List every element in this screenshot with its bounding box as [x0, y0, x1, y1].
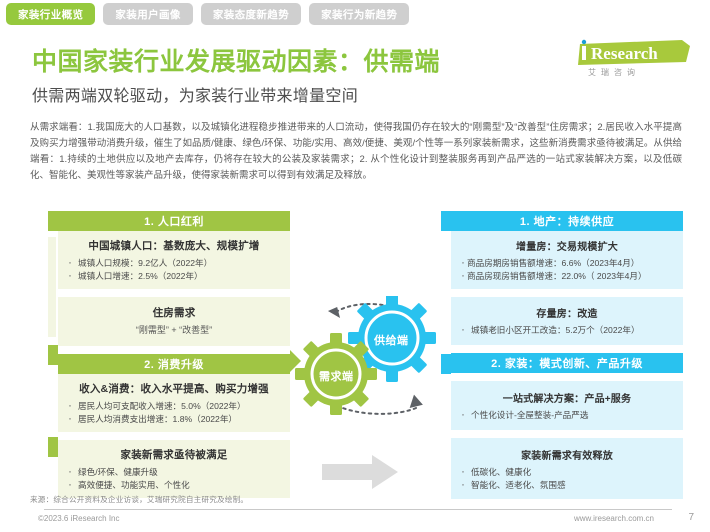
card-bullets: 商品房期房销售额增速：6.6%（2023年4月） 商品房现房销售额增速：22.0… — [457, 257, 677, 283]
card-bullets: 绿色/环保、健康升级 高效便捷、功能实用、个性化 — [64, 466, 284, 492]
spacer — [451, 289, 683, 297]
demand-side-column: 1. 人口红利 中国城镇人口：基数庞大、规模扩增 城镇人口规模：9.2亿人（20… — [58, 211, 290, 498]
page-title: 中国家装行业发展驱动因素：供需端 — [32, 42, 440, 78]
website-link[interactable]: www.iresearch.com.cn — [574, 514, 654, 523]
spacer — [58, 289, 290, 297]
card-bullets: 个性化设计-全屋整装-产品严选 — [457, 409, 677, 422]
source-note: 来源：综合公开资料及企业访谈，艾瑞研究院自主研究及绘制。 — [30, 494, 248, 505]
footer-divider — [44, 509, 672, 510]
left-section-2-header: 2. 消费升级 — [58, 354, 290, 374]
page-number: 7 — [688, 512, 694, 523]
card-plain-text: “刚需型” + “改善型” — [64, 324, 284, 337]
card-title: 住房需求 — [64, 305, 284, 320]
list-item: 个性化设计-全屋整装-产品严选 — [457, 409, 677, 422]
right-section-2-header: 2. 家装：模式创新、产品升级 — [451, 353, 683, 373]
list-item: 高效便捷、功能实用、个性化 — [64, 479, 284, 492]
supply-demand-gears-icon — [288, 296, 450, 418]
iresearch-logo: Research 艾瑞咨询 — [574, 38, 694, 80]
tab-bar: 家装行业概览 家装用户画像 家装态度新趋势 家装行为新趋势 — [0, 0, 409, 28]
right-card-effective-release: 家装新需求有效释放 低碳化、健康化 智能化、适老化、氛围感 — [451, 438, 683, 499]
left-section-2-title: 2. 消费升级 — [144, 356, 204, 372]
list-item: 城镇老旧小区开工改造：5.2万个（2022年） — [457, 324, 677, 337]
left-edge-notch-1 — [48, 211, 58, 231]
left-edge-strip — [48, 237, 56, 337]
left-card-new-demand: 家装新需求亟待被满足 绿色/环保、健康升级 高效便捷、功能实用、个性化 — [58, 440, 290, 498]
list-item: 智能化、适老化、氛围感 — [457, 479, 677, 492]
list-item: 绿色/环保、健康升级 — [64, 466, 284, 479]
supply-side-column: 1. 地产：持续供应 增量房：交易规模扩大 商品房期房销售额增速：6.6%（20… — [451, 211, 683, 499]
card-bullets: 城镇人口规模：9.2亿人（2022年） 城镇人口增速：2.5%（2022年） — [64, 257, 284, 283]
demand-gear-label: 需求端 — [319, 368, 354, 384]
tab-behavior-trends[interactable]: 家装行为新趋势 — [309, 3, 409, 25]
left-card-income: 收入&消费：收入水平提高、购买力增强 居民人均可支配收入增速：5.0%（2022… — [58, 374, 290, 432]
supply-gear-label: 供给端 — [374, 332, 409, 348]
card-title: 存量房：改造 — [457, 305, 677, 320]
left-card-population: 中国城镇人口：基数庞大、规模扩增 城镇人口规模：9.2亿人（2022年） 城镇人… — [58, 231, 290, 289]
list-item: 居民人均可支配收入增速：5.0%（2022年） — [64, 400, 284, 413]
flow-arrow-icon — [322, 455, 398, 489]
card-bullets: 居民人均可支配收入增速：5.0%（2022年） 居民人均消费支出增速：1.8%（… — [64, 400, 284, 426]
card-title: 家装新需求有效释放 — [457, 447, 677, 462]
left-section-1-header: 1. 人口红利 — [58, 211, 290, 231]
tab-label: 家装行业概览 — [18, 7, 83, 22]
spacer — [58, 432, 290, 440]
list-item: 商品房现房销售额增速：22.0%（ 2023年4月） — [457, 270, 677, 283]
gears-graphic: 供给端 需求端 — [288, 296, 450, 418]
tab-attitude-trends[interactable]: 家装态度新趋势 — [201, 3, 301, 25]
list-item: 居民人均消费支出增速：1.8%（2022年） — [64, 413, 284, 426]
list-item: 城镇人口增速：2.5%（2022年） — [64, 270, 284, 283]
copyright-text: ©2023.6 iResearch Inc — [38, 514, 120, 523]
card-title: 家装新需求亟待被满足 — [64, 447, 284, 462]
intro-paragraph: 从需求端看：1.我国庞大的人口基数，以及城镇化进程稳步推进带来的人口流动，使得我… — [30, 120, 682, 184]
tab-label: 家装行为新趋势 — [321, 7, 397, 22]
spacer — [451, 373, 683, 381]
logo-chinese-name: 艾瑞咨询 — [588, 67, 640, 78]
list-item: 商品房期房销售额增速：6.6%（2023年4月） — [457, 257, 677, 270]
tab-industry-overview[interactable]: 家装行业概览 — [6, 3, 95, 25]
card-title: 收入&消费：收入水平提高、购买力增强 — [64, 381, 284, 396]
right-section-1-title: 1. 地产：持续供应 — [520, 213, 614, 229]
left-edge-notch-3 — [48, 437, 58, 457]
svg-text:Research: Research — [591, 44, 658, 63]
card-title: 一站式解决方案：产品+服务 — [457, 390, 677, 405]
list-item: 低碳化、健康化 — [457, 466, 677, 479]
right-card-one-stop: 一站式解决方案：产品+服务 个性化设计-全屋整装-产品严选 — [451, 381, 683, 430]
page-subtitle: 供需两端双轮驱动，为家装行业带来增量空间 — [32, 82, 358, 106]
left-edge-notch-2 — [48, 345, 58, 365]
tab-user-profile[interactable]: 家装用户画像 — [103, 3, 192, 25]
spacer — [451, 430, 683, 438]
slide-page: 家装行业概览 家装用户画像 家装态度新趋势 家装行为新趋势 中国家装行业发展驱动… — [0, 0, 710, 532]
right-card-new-housing: 增量房：交易规模扩大 商品房期房销售额增速：6.6%（2023年4月） 商品房现… — [451, 231, 683, 289]
spacer — [58, 346, 290, 354]
card-bullets: 低碳化、健康化 智能化、适老化、氛围感 — [457, 466, 677, 492]
tab-label: 家装态度新趋势 — [213, 7, 289, 22]
card-bullets: 城镇老旧小区开工改造：5.2万个（2022年） — [457, 324, 677, 337]
left-section-1-title: 1. 人口红利 — [144, 213, 204, 229]
right-section-1-header: 1. 地产：持续供应 — [451, 211, 683, 231]
right-section-2-title: 2. 家装：模式创新、产品升级 — [491, 355, 643, 371]
card-title: 增量房：交易规模扩大 — [457, 238, 677, 253]
logo-wordmark-icon: Research — [574, 38, 694, 68]
card-title: 中国城镇人口：基数庞大、规模扩增 — [64, 238, 284, 253]
list-item: 城镇人口规模：9.2亿人（2022年） — [64, 257, 284, 270]
left-card-housing-demand: 住房需求 “刚需型” + “改善型” — [58, 297, 290, 346]
spacer — [451, 345, 683, 353]
tab-label: 家装用户画像 — [115, 7, 180, 22]
right-edge-notch-1 — [441, 211, 451, 231]
right-card-existing-housing: 存量房：改造 城镇老旧小区开工改造：5.2万个（2022年） — [451, 297, 683, 345]
